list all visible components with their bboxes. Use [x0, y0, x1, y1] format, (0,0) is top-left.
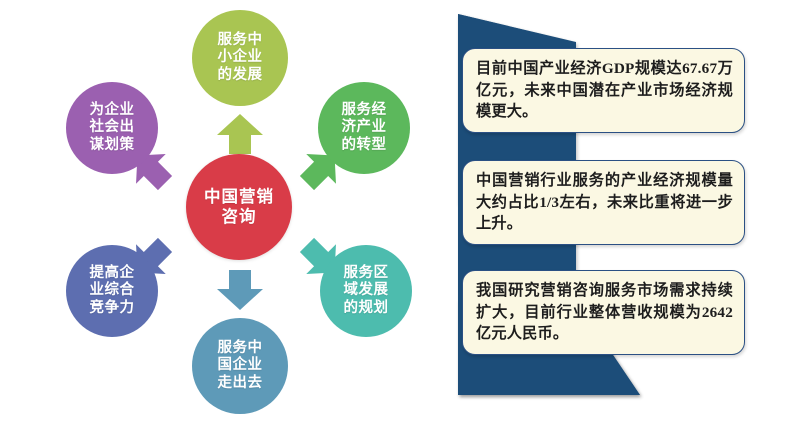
callout-box-2: 中国营销行业服务的产业经济规模量大约占比1/3左右，未来比重将进一步上升。 — [462, 160, 745, 245]
callout-text: 中国营销行业服务的产业经济规模量大约占比1/3左右，未来比重将进一步上升。 — [476, 170, 733, 235]
callout-text: 目前中国产业经济GDP规模达67.67万亿元，未来中国潜在产业市场经济规模更大。 — [476, 58, 733, 123]
infographic-canvas: 服务中 小企业 的发展 服务经 济产业 的转型 服务区 域发展 的规划 服务中 … — [0, 0, 800, 435]
callout-box-3: 我国研究营销咨询服务市场需求持续扩大，目前行业整体营收规模为2642亿元人民币。 — [462, 270, 745, 355]
node-service-sme-development[interactable]: 服务中 小企业 的发展 — [192, 10, 288, 106]
node-label: 服务中 国企业 走出去 — [218, 340, 263, 391]
callout-text: 我国研究营销咨询服务市场需求持续扩大，目前行业整体营收规模为2642亿元人民币。 — [476, 280, 733, 345]
arrow-up-icon — [213, 112, 267, 156]
node-label: 服务中 小企业 的发展 — [218, 32, 263, 83]
arrow-down-icon — [213, 268, 267, 312]
node-improve-enterprise-competitiveness[interactable]: 提高企 业综合 竞争力 — [66, 245, 158, 337]
node-service-regional-development-planning[interactable]: 服务区 域发展 的规划 — [320, 245, 412, 337]
node-label: 服务经 济产业 的转型 — [342, 102, 387, 153]
node-label: 提高企 业综合 竞争力 — [90, 265, 135, 316]
center-node-label: 中国营销 咨询 — [204, 187, 274, 227]
node-center-china-marketing-consulting[interactable]: 中国营销 咨询 — [186, 154, 292, 260]
callout-panel: 目前中国产业经济GDP规模达67.67万亿元，未来中国潜在产业市场经济规模更大。… — [450, 0, 800, 435]
node-label: 为企业 社会出 谋划策 — [90, 102, 135, 153]
node-advise-enterprises-and-society[interactable]: 为企业 社会出 谋划策 — [66, 82, 158, 174]
callout-box-1: 目前中国产业经济GDP规模达67.67万亿元，未来中国潜在产业市场经济规模更大。 — [462, 48, 745, 133]
node-service-economic-industry-transformation[interactable]: 服务经 济产业 的转型 — [318, 82, 410, 174]
node-label: 服务区 域发展 的规划 — [344, 265, 389, 316]
hub-and-spoke-diagram: 服务中 小企业 的发展 服务经 济产业 的转型 服务区 域发展 的规划 服务中 … — [0, 0, 450, 435]
node-service-chinese-enterprises-going-global[interactable]: 服务中 国企业 走出去 — [192, 318, 288, 414]
